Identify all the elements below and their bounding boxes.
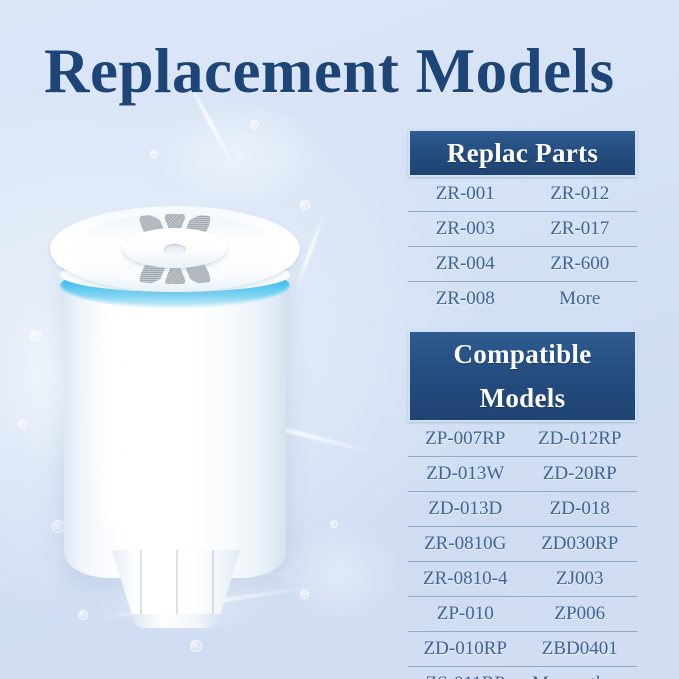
replacement-parts-table-header-label: Replac Parts [410, 131, 635, 175]
table-cell: ZR-004 [408, 253, 523, 275]
replacement-parts-table-header: Replac Parts [408, 129, 637, 177]
table-row: ZR-0810G ZD030RP [408, 527, 637, 562]
table-cell: ZR-0810-4 [408, 568, 523, 590]
compatible-models-table-body: ZP-007RP ZD-012RP ZD-013W ZD-20RP ZD-013… [408, 422, 637, 679]
compatible-models-table-header-label: Compatible Models [410, 332, 635, 420]
table-row: ZP-007RP ZD-012RP [408, 422, 637, 457]
table-row: ZR-004 ZR-600 [408, 247, 637, 282]
table-cell: Many others [523, 673, 638, 679]
filter-base-rib [176, 550, 178, 618]
water-droplet [150, 150, 158, 158]
replacement-parts-table-body: ZR-001 ZR-012 ZR-003 ZR-017 ZR-004 ZR-60… [408, 177, 637, 316]
table-row: ZP-010 ZP006 [408, 597, 637, 632]
table-cell: ZS-011RP [408, 673, 523, 679]
table-row: ZR-0810-4 ZJ003 [408, 562, 637, 597]
filter-base-bottom [132, 614, 220, 628]
table-cell: ZP006 [523, 603, 638, 625]
water-filter-image [28, 198, 328, 648]
table-cell: ZD-013D [408, 498, 523, 520]
table-cell: ZD030RP [523, 533, 638, 555]
table-cell: ZD-20RP [523, 463, 638, 485]
table-cell: ZR-003 [408, 218, 523, 240]
table-cell: ZD-013W [408, 463, 523, 485]
replacement-parts-table: Replac Parts ZR-001 ZR-012 ZR-003 ZR-017… [408, 129, 637, 316]
table-cell: ZD-018 [523, 498, 638, 520]
table-row: ZR-001 ZR-012 [408, 177, 637, 212]
table-cell: ZJ003 [523, 568, 638, 590]
table-cell: ZR-012 [523, 183, 638, 205]
water-droplet [330, 520, 338, 528]
table-cell: ZD-010RP [408, 638, 523, 660]
table-row: ZD-010RP ZBD0401 [408, 632, 637, 667]
filter-body-highlight [88, 288, 140, 528]
filter-cap-grille [70, 214, 280, 284]
filter-base-rib [140, 550, 142, 618]
table-cell: ZBD0401 [523, 638, 638, 660]
filter-cap-hole [164, 244, 186, 255]
table-cell: ZP-010 [408, 603, 523, 625]
water-droplet [250, 120, 259, 129]
table-cell: More [523, 288, 638, 310]
product-infographic: Replacement Models [0, 0, 679, 679]
compatible-models-table-header: Compatible Models [408, 330, 637, 422]
filter-base-rib [212, 550, 214, 618]
table-cell: ZR-017 [523, 218, 638, 240]
page-title: Replacement Models [44, 38, 644, 104]
table-cell: ZD-012RP [523, 428, 638, 450]
table-row: ZS-011RP Many others [408, 667, 637, 679]
table-cell: ZR-001 [408, 183, 523, 205]
table-cell: ZR-600 [523, 253, 638, 275]
table-row: ZR-008 More [408, 282, 637, 316]
compatible-models-table: Compatible Models ZP-007RP ZD-012RP ZD-0… [408, 330, 637, 679]
table-cell: ZR-008 [408, 288, 523, 310]
water-droplet [18, 420, 26, 428]
table-cell: ZP-007RP [408, 428, 523, 450]
table-row: ZD-013W ZD-20RP [408, 457, 637, 492]
table-cell: ZR-0810G [408, 533, 523, 555]
table-row: ZR-003 ZR-017 [408, 212, 637, 247]
table-row: ZD-013D ZD-018 [408, 492, 637, 527]
